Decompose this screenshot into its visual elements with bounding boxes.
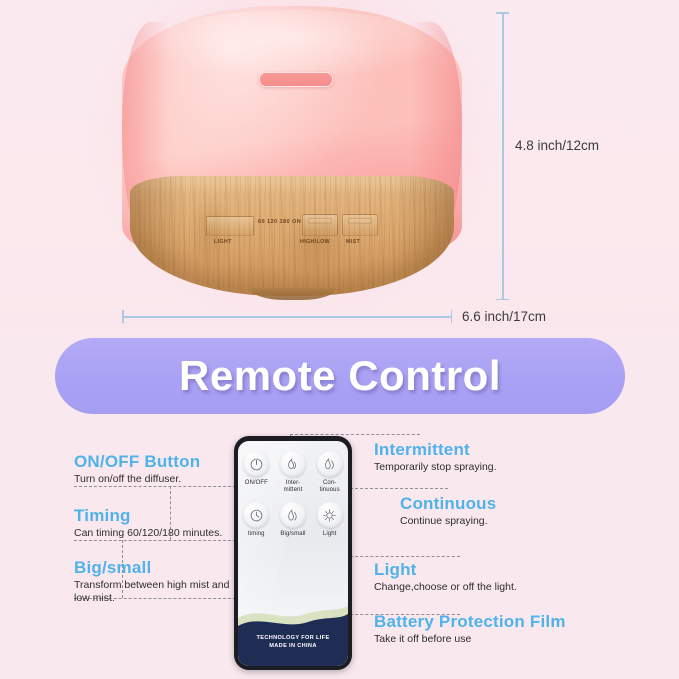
base-button-high-low-indicator bbox=[308, 218, 332, 224]
dimension-line-horizontal bbox=[122, 316, 452, 318]
clock-icon bbox=[243, 502, 269, 528]
continuous-icon bbox=[317, 451, 343, 477]
sun-icon bbox=[317, 502, 343, 528]
remote-button-label: Inter- mittent bbox=[284, 480, 303, 494]
dimension-line-vertical bbox=[502, 12, 504, 300]
remote-button-label: Big/small bbox=[280, 531, 305, 538]
product-photo-section: DIFFUSERLOVE LIGHT 60 120 180 ON HIGH/LO… bbox=[0, 0, 679, 330]
annotation-light: Light Change,choose or off the light. bbox=[374, 560, 517, 594]
annotation-intermittent: Intermittent Temporarily stop spraying. bbox=[374, 440, 497, 474]
connector-intermittent bbox=[290, 434, 420, 435]
diffuser-wood-base: LIGHT 60 120 180 ON HIGH/LOW MIST bbox=[130, 176, 454, 296]
remote-button-onoff[interactable]: ON/OFF bbox=[243, 451, 269, 494]
remote-control-device[interactable]: ON/OFF Inter- mittent bbox=[234, 436, 352, 670]
dome-highlight bbox=[148, 10, 438, 76]
annotation-desc: Transform between high mist and low mist… bbox=[74, 579, 238, 605]
dimension-label-height: 4.8 inch/12cm bbox=[515, 138, 599, 153]
connector-continuous bbox=[350, 488, 448, 489]
annotation-battery-protection-film: Battery Protection Film Take it off befo… bbox=[374, 612, 566, 646]
diffuser-product: DIFFUSERLOVE LIGHT 60 120 180 ON HIGH/LO… bbox=[122, 6, 462, 294]
annotation-big-small: Big/small Transform between high mist an… bbox=[74, 558, 238, 605]
power-icon bbox=[243, 451, 269, 477]
annotation-title: Continuous bbox=[400, 494, 496, 514]
remote-button-label: timing bbox=[248, 531, 265, 538]
annotation-title: Intermittent bbox=[374, 440, 497, 460]
base-button-light[interactable] bbox=[206, 216, 254, 236]
product-infographic: DIFFUSERLOVE LIGHT 60 120 180 ON HIGH/LO… bbox=[0, 0, 679, 679]
annotation-continuous: Continuous Continue spraying. bbox=[400, 494, 496, 528]
wood-right-shading bbox=[394, 176, 454, 296]
remote-button-label: ON/OFF bbox=[245, 480, 268, 487]
annotation-title: Big/small bbox=[74, 558, 238, 578]
base-label-high-low: HIGH/LOW bbox=[300, 239, 330, 245]
remote-button-label: Con- tinuous bbox=[320, 480, 340, 494]
annotation-title: Light bbox=[374, 560, 517, 580]
remote-control-banner: Remote Control bbox=[55, 338, 625, 414]
annotation-desc: Turn on/off the diffuser. bbox=[74, 473, 200, 486]
annotation-desc: Change,choose or off the light. bbox=[374, 581, 517, 594]
remote-button-intermittent[interactable]: Inter- mittent bbox=[280, 451, 306, 494]
remote-footer-line1: TECHNOLOGY FOR LIFE bbox=[238, 634, 348, 642]
mist-size-icon bbox=[280, 502, 306, 528]
banner-title: Remote Control bbox=[179, 352, 501, 400]
intermittent-icon bbox=[280, 451, 306, 477]
connector-light bbox=[350, 556, 460, 557]
base-label-timing-marks: 60 120 180 ON bbox=[258, 219, 301, 225]
base-button-mist-indicator bbox=[348, 218, 372, 224]
remote-button-grid: ON/OFF Inter- mittent bbox=[238, 451, 348, 539]
remote-footer-line2: MADE IN CHINA bbox=[238, 642, 348, 650]
remote-face: ON/OFF Inter- mittent bbox=[238, 441, 348, 666]
remote-button-timing[interactable]: timing bbox=[243, 502, 269, 538]
remote-button-big-small[interactable]: Big/small bbox=[280, 502, 306, 538]
remote-button-label: Light bbox=[323, 531, 337, 538]
dimension-label-width: 6.6 inch/17cm bbox=[462, 309, 546, 324]
connector-timing bbox=[74, 540, 236, 541]
connector-onoff bbox=[74, 486, 236, 487]
annotation-desc: Continue spraying. bbox=[400, 515, 496, 528]
annotation-desc: Take it off before use bbox=[374, 633, 566, 646]
remote-button-light[interactable]: Light bbox=[317, 502, 343, 538]
annotation-onoff-button: ON/OFF Button Turn on/off the diffuser. bbox=[74, 452, 200, 486]
wood-left-shading bbox=[130, 176, 186, 296]
remote-footer-text: TECHNOLOGY FOR LIFE MADE IN CHINA bbox=[238, 634, 348, 650]
remote-bottom-graphic bbox=[238, 592, 348, 666]
base-label-mist: MIST bbox=[346, 239, 360, 245]
annotation-title: ON/OFF Button bbox=[74, 452, 200, 472]
annotation-desc: Temporarily stop spraying. bbox=[374, 461, 497, 474]
annotation-timing: Timing Can timing 60/120/180 minutes. bbox=[74, 506, 222, 540]
mist-outlet-slot bbox=[259, 72, 333, 87]
remote-button-continuous[interactable]: Con- tinuous bbox=[317, 451, 343, 494]
annotation-title: Timing bbox=[74, 506, 222, 526]
base-label-light: LIGHT bbox=[214, 239, 232, 245]
annotation-title: Battery Protection Film bbox=[374, 612, 566, 632]
annotation-desc: Can timing 60/120/180 minutes. bbox=[74, 527, 222, 540]
diffuser-foot bbox=[250, 288, 336, 300]
remote-annotation-section: ON/OFF Inter- mittent bbox=[0, 418, 679, 679]
